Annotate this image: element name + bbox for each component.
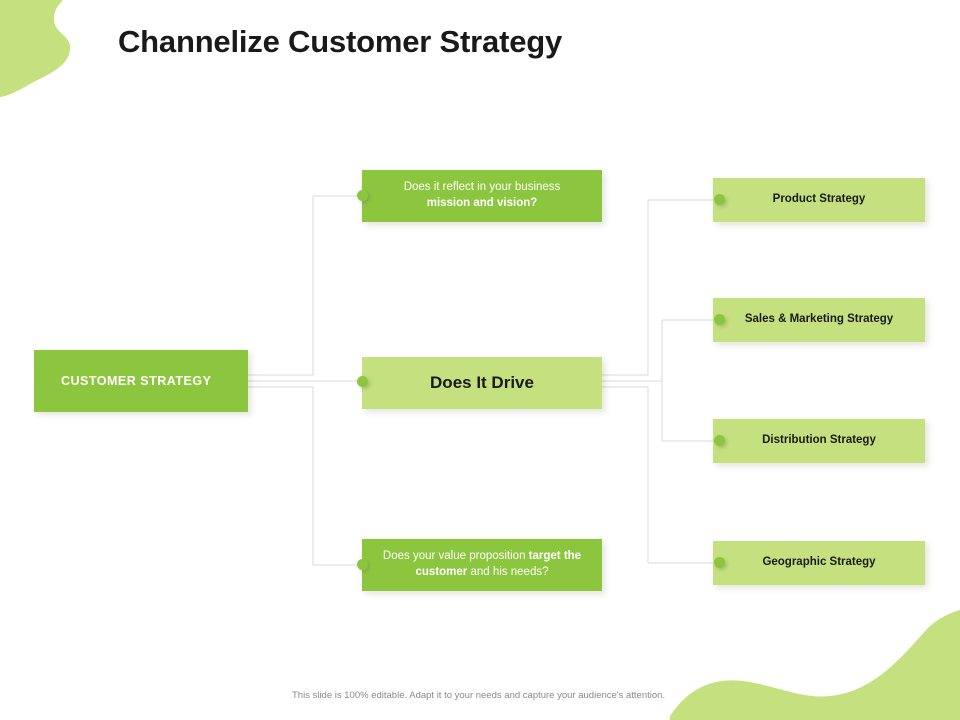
node-distribution-strategy[interactable]: Distribution Strategy	[713, 419, 925, 463]
mission-line-1: Does it reflect in your business	[404, 181, 561, 193]
connector-dot-geographic	[714, 557, 725, 568]
value-line-1-bold: target the	[529, 550, 581, 562]
node-customer-strategy-label: CUSTOMER STRATEGY	[34, 373, 248, 390]
connector-dot-sales	[714, 314, 725, 325]
connector-dot-product	[714, 194, 725, 205]
node-distribution-strategy-label: Distribution Strategy	[713, 433, 925, 449]
node-sales-marketing-strategy-label: Sales & Marketing Strategy	[713, 312, 925, 328]
value-line-2-bold: customer	[416, 566, 468, 578]
node-customer-strategy[interactable]: CUSTOMER STRATEGY	[34, 350, 248, 412]
connector-dot-distribution	[714, 435, 725, 446]
node-sales-marketing-strategy[interactable]: Sales & Marketing Strategy	[713, 298, 925, 342]
connector-dot-drive	[357, 376, 368, 387]
footer-note: This slide is 100% editable. Adapt it to…	[292, 690, 665, 701]
mission-line-2: mission and vision?	[427, 197, 538, 209]
node-mission-vision[interactable]: Does it reflect in your business mission…	[362, 170, 602, 222]
value-line-1-plain: Does your value proposition	[383, 550, 529, 562]
node-product-strategy[interactable]: Product Strategy	[713, 178, 925, 222]
node-product-strategy-label: Product Strategy	[713, 192, 925, 208]
value-line-2-plain: and his needs?	[467, 566, 548, 578]
node-geographic-strategy[interactable]: Geographic Strategy	[713, 541, 925, 585]
connector-dot-value	[357, 559, 368, 570]
node-geographic-strategy-label: Geographic Strategy	[713, 555, 925, 571]
connector-dot-mission	[357, 190, 368, 201]
node-value-proposition-label: Does your value proposition target the c…	[362, 549, 602, 580]
node-mission-vision-label: Does it reflect in your business mission…	[362, 180, 602, 211]
node-does-it-drive[interactable]: Does It Drive	[362, 357, 602, 409]
node-does-it-drive-label: Does It Drive	[362, 372, 602, 395]
node-value-proposition[interactable]: Does your value proposition target the c…	[362, 539, 602, 591]
slide-canvas: Channelize Customer Strategy	[0, 0, 960, 720]
